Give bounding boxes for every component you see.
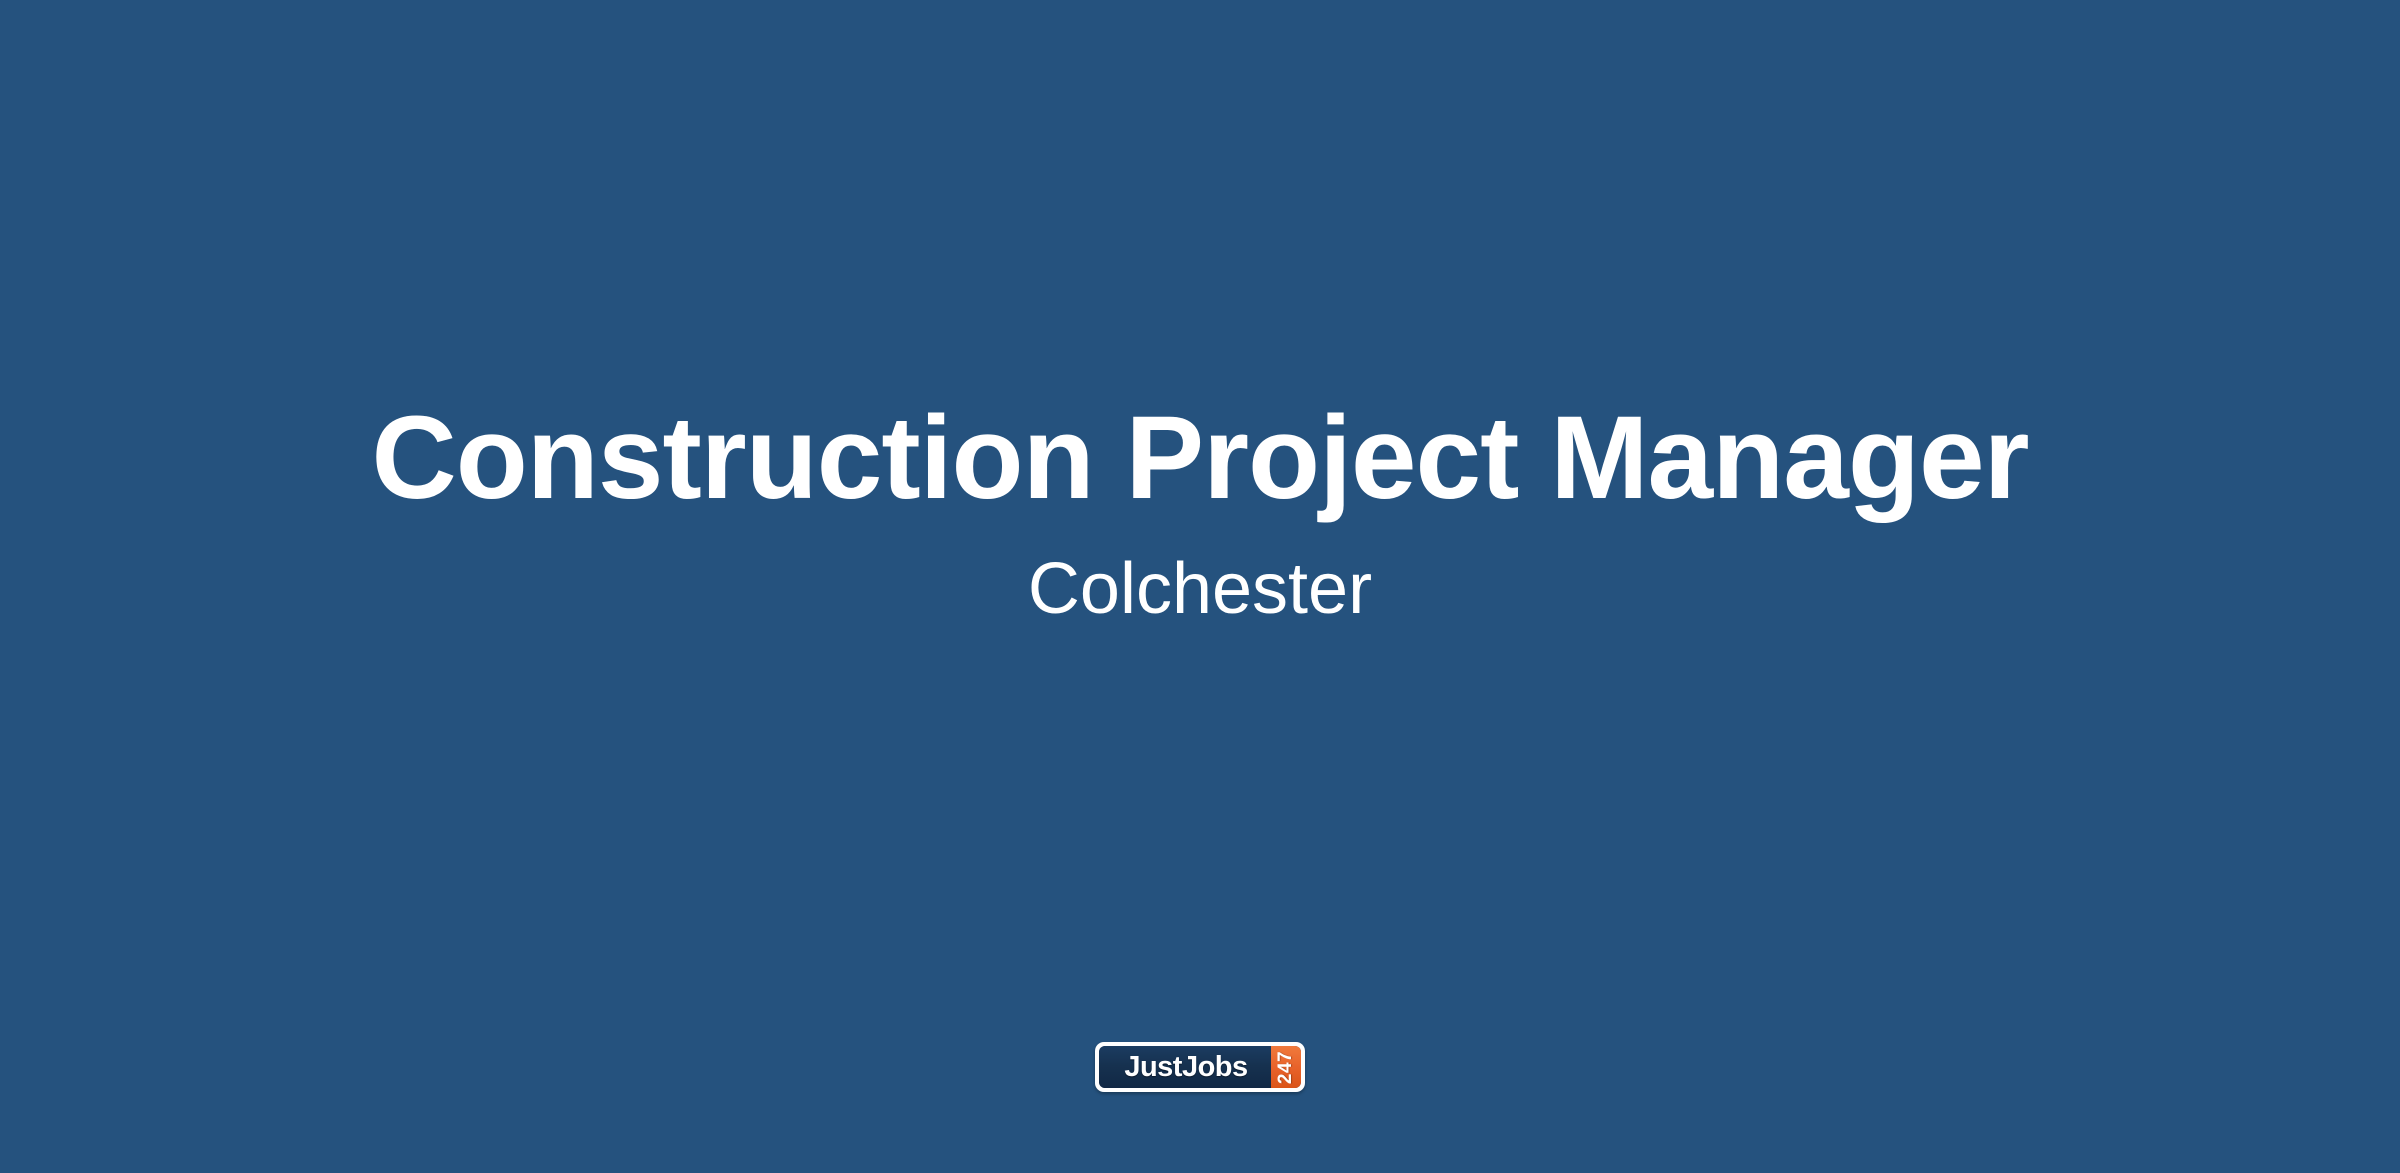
logo-inner-panel: JustJobs 247: [1099, 1046, 1301, 1088]
brand-logo-container: JustJobs 247: [0, 1042, 2400, 1092]
logo-247-badge-text: 247: [1277, 1050, 1296, 1083]
job-location: Colchester: [0, 550, 2400, 628]
logo-wordmark-panel: JustJobs: [1099, 1046, 1271, 1088]
justjobs247-logo[interactable]: JustJobs 247: [1095, 1042, 1305, 1092]
logo-wordmark-text: JustJobs: [1124, 1052, 1247, 1082]
hero-section: Construction Project Manager Colchester: [0, 0, 2400, 1173]
page-title: Construction Project Manager: [0, 398, 2400, 518]
logo-247-badge: 247: [1271, 1046, 1301, 1088]
job-card-slide: Construction Project Manager Colchester …: [0, 0, 2400, 1173]
